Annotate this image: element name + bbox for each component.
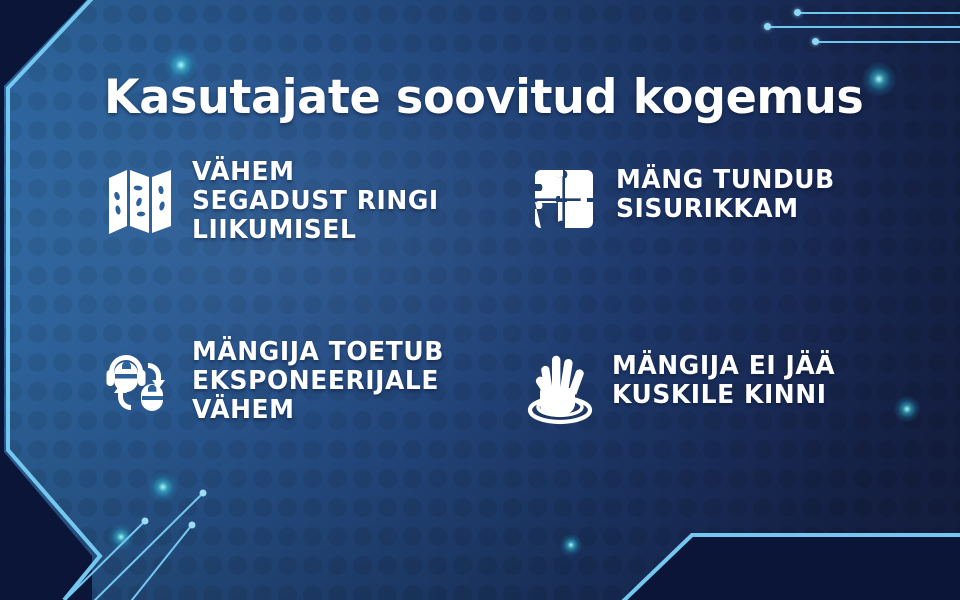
feature-item-player-relies-less-on-host[interactable]: MÄNGIJA TOETUB EKSPONEERIJALE VÄHEM (104, 338, 534, 425)
circuit-dot-top-3 (812, 38, 819, 45)
feature-item-player-never-gets-stuck[interactable]: MÄNGIJA EI JÄÄ KUSKILE KINNI (524, 352, 944, 428)
folded-map-icon (107, 166, 173, 238)
circuit-dot-top-1 (794, 9, 801, 16)
feature-icon-wrap (104, 338, 176, 414)
glow-dot (862, 62, 896, 96)
feature-label: MÄNGIJA TOETUB EKSPONEERIJALE VÄHEM (192, 338, 444, 425)
player-support-headset-icon (104, 344, 176, 414)
circuit-dot-top-2 (764, 23, 771, 30)
feature-item-less-confusion-navigating[interactable]: VÄHEM SEGADUST RINGI LIIKUMISEL (104, 158, 524, 245)
feature-label: MÄNGIJA EI JÄÄ KUSKILE KINNI (612, 352, 835, 410)
feature-icon-wrap (528, 166, 600, 230)
hand-stuck-sinking-icon (522, 352, 598, 428)
bottom-left-circuit-lines (60, 470, 320, 600)
puzzle-pieces-icon (533, 168, 595, 230)
slide-canvas: Kasutajate soovitud kogemus (0, 0, 960, 600)
feature-icon-wrap (524, 352, 596, 428)
circuit-line-top-1 (798, 12, 960, 14)
feature-item-game-feels-richer[interactable]: MÄNG TUNDUB SISURIKKAM (528, 166, 938, 230)
page-title: Kasutajate soovitud kogemus (104, 74, 863, 121)
circuit-line-top-3 (816, 41, 960, 43)
feature-label: MÄNG TUNDUB SISURIKKAM (616, 166, 835, 224)
feature-icon-wrap (104, 158, 176, 238)
bottom-right-corner-panel (620, 500, 960, 600)
glow-dot (560, 534, 582, 556)
circuit-line-top-2 (768, 26, 960, 28)
feature-label: VÄHEM SEGADUST RINGI LIIKUMISEL (192, 158, 439, 245)
